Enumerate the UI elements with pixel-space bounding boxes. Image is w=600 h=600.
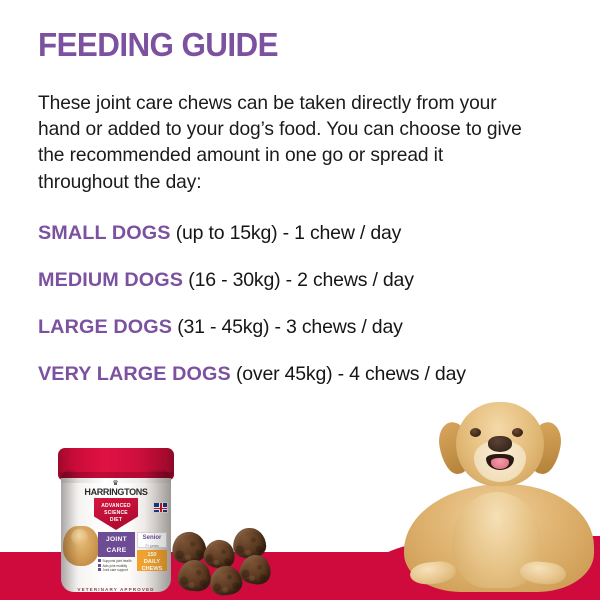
feeding-row-category: SMALL DOGS [38,222,171,244]
life-stage-badge: Senior 7+ years [137,532,167,548]
feeding-row-small: SMALL DOGS (up to 15kg) - 1 chew / day [38,222,578,269]
chew-count-word-daily: DAILY [137,559,167,566]
life-stage-sub: 7+ years [138,542,166,550]
jar-dog-image [63,526,99,566]
life-stage-label: Senior [143,535,162,541]
feeding-row-details: (over 45kg) - 4 chews / day [231,363,466,385]
dog-eye-right [512,428,523,437]
feeding-row-large: LARGE DOGS (31 - 45kg) - 3 chews / day [38,316,578,363]
variant-line-2: CARE [98,545,135,556]
page-title: FEEDING GUIDE [38,26,278,64]
union-jack-icon [153,502,168,513]
variant-line-1: JOINT [98,534,135,545]
brand-name: HARRINGTONS [60,486,171,497]
jar-benefit-bullets: Supports joint health Aids joint mobilit… [98,559,135,573]
chew-count-number: 150 [137,552,167,559]
feeding-rows-list: SMALL DOGS (up to 15kg) - 1 chew / day M… [38,222,578,410]
variant-name-panel: JOINT CARE [98,532,135,557]
benefit-bullet: Joint care support [98,568,135,573]
intro-paragraph: These joint care chews can be taken dire… [38,91,538,196]
chew-count-word-chews: CHEWS [137,566,167,573]
feeding-row-details: (31 - 45kg) - 3 chews / day [172,316,403,338]
feeding-row-medium: MEDIUM DOGS (16 - 30kg) - 2 chews / day [38,269,578,316]
feeding-row-category: MEDIUM DOGS [38,269,183,291]
joint-care-chew [232,527,267,559]
vet-approved-band: VETERINARY APPROVED [61,587,171,592]
feeding-row-category: LARGE DOGS [38,316,172,338]
dog-eye-left [470,428,481,437]
feeding-row-details: (up to 15kg) - 1 chew / day [171,222,402,244]
feeding-row-details: (16 - 30kg) - 2 chews / day [183,269,414,291]
feeding-row-category: VERY LARGE DOGS [38,363,231,385]
shield-line-2: SCIENCE [94,510,138,517]
golden-retriever-photo [400,392,600,600]
shield-line-1: ADVANCED [94,503,138,510]
chew-count-badge: 150 DAILY CHEWS [137,550,167,571]
dog-nose [488,436,512,452]
product-jar: ♛ HARRINGTONS ADVANCED SCIENCE DIET JOIN… [58,448,174,596]
